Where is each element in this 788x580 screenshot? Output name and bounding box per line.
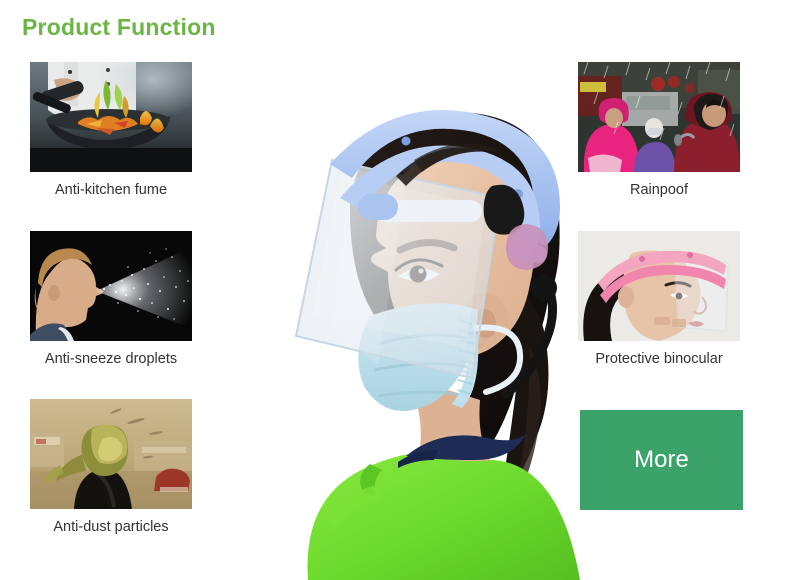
feature-thumbnail-anti-kitchen-fume[interactable] (30, 62, 192, 172)
feature-thumbnail-rainproof[interactable] (578, 62, 740, 172)
chef-wok-stirfry-image (30, 62, 192, 172)
man-sneezing-droplets-image (30, 231, 192, 341)
product-function-page: Product Function (0, 0, 788, 580)
more-button[interactable]: More (580, 410, 743, 510)
feature-card-protective-binocular[interactable]: Protective binocular (578, 231, 744, 367)
feature-card-rainproof[interactable]: Rainpoof (578, 62, 744, 198)
woman-pink-face-shield-image (578, 231, 740, 341)
feature-card-anti-kitchen-fume[interactable]: Anti-kitchen fume (30, 62, 196, 198)
feature-thumbnail-anti-sneeze-droplets[interactable] (30, 231, 192, 341)
hair-tie (506, 224, 548, 270)
feature-thumbnail-anti-dust-particles[interactable] (30, 399, 192, 509)
feature-card-anti-sneeze-droplets[interactable]: Anti-sneeze droplets (30, 231, 196, 367)
feature-caption: Rainpoof (578, 182, 740, 198)
feature-caption: Anti-kitchen fume (30, 182, 192, 198)
feature-caption: Anti-sneeze droplets (30, 351, 192, 367)
feature-thumbnail-protective-binocular[interactable] (578, 231, 740, 341)
feature-caption: Protective binocular (578, 351, 740, 367)
page-title: Product Function (22, 14, 216, 41)
feature-card-anti-dust-particles[interactable]: Anti-dust particles (30, 399, 196, 535)
woman-wearing-face-shield-illustration (200, 48, 590, 580)
shirt (308, 453, 580, 580)
feature-caption: Anti-dust particles (30, 519, 192, 535)
people-rain-ponchos-image (578, 62, 740, 172)
woman-headscarf-dust-storm-image (30, 399, 192, 509)
hero-product-image (200, 48, 590, 580)
